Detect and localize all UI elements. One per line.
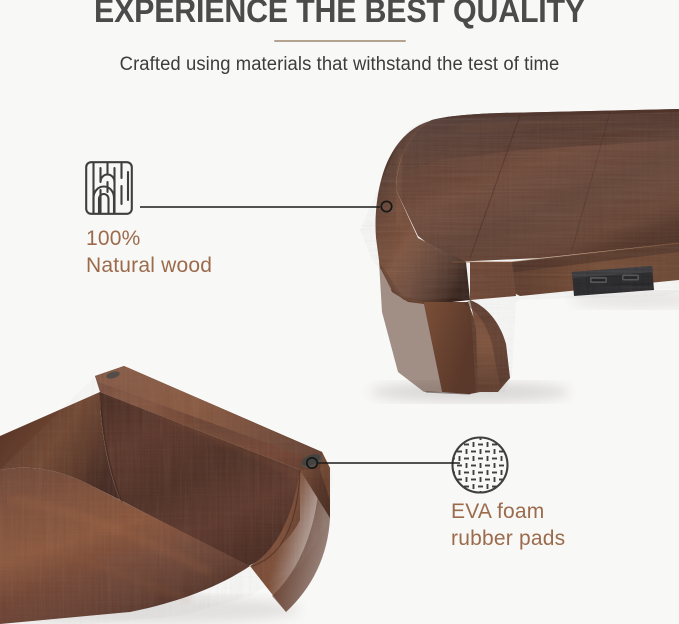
header: EXPERIENCE THE BEST QUALITY Crafted usin…	[0, 0, 679, 76]
leader-line-foam	[300, 452, 460, 474]
infographic-canvas: EXPERIENCE THE BEST QUALITY Crafted usin…	[0, 0, 679, 624]
page-title: EXPERIENCE THE BEST QUALITY	[27, 0, 652, 27]
lower-product-group	[0, 355, 350, 624]
page-subtitle: Crafted using materials that withstand t…	[10, 53, 669, 76]
upper-product-group	[360, 105, 679, 405]
title-divider	[274, 40, 406, 42]
leader-line-wood	[140, 196, 398, 218]
product-photo	[0, 0, 679, 624]
